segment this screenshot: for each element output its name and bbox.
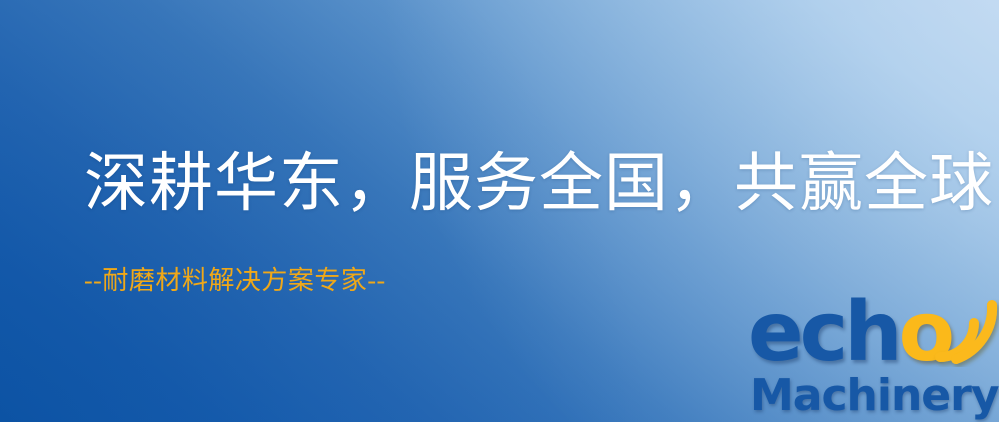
page-subtitle: --耐磨材料解决方案专家-- (84, 268, 386, 294)
page-title: 深耕华东，服务全国，共赢全球 (84, 152, 994, 216)
company-logo[interactable]: echo Machinery® (744, 296, 996, 422)
hero-banner: 深耕华东，服务全国，共赢全球 --耐磨材料解决方案专家-- echo Machi… (0, 0, 999, 422)
signal-arcs-icon (930, 295, 999, 367)
logo-wordmark: echo (744, 296, 996, 378)
logo-tagline: Machinery® (750, 368, 999, 418)
logo-text-ech: ech (748, 285, 899, 380)
logo-echo-text: echo (748, 292, 951, 374)
logo-tagline-text: Machinery (750, 370, 999, 421)
